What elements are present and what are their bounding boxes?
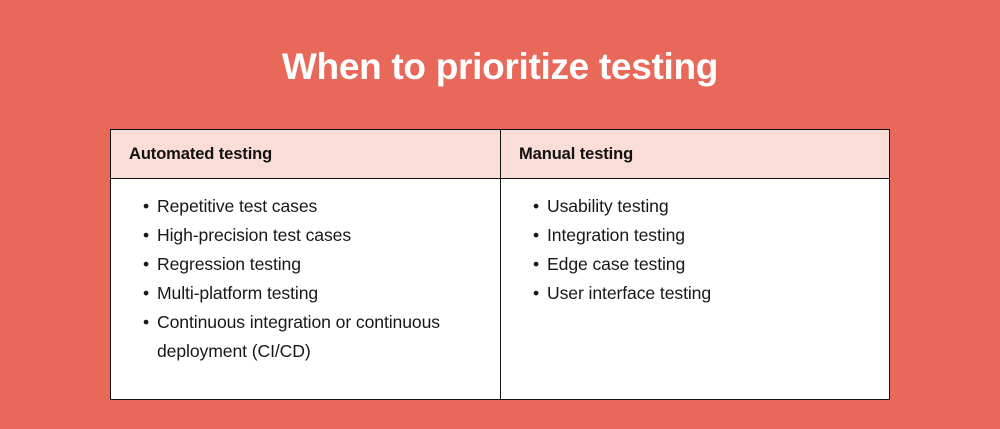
list-item: • Repetitive test cases <box>157 192 486 221</box>
bullet-icon: • <box>531 192 541 221</box>
list-item-label: Continuous integration or continuous dep… <box>157 308 486 366</box>
bullet-icon: • <box>531 250 541 279</box>
list-item-label: High-precision test cases <box>157 221 486 250</box>
table-header-row: Automated testing Manual testing <box>111 130 890 179</box>
table-body: • Repetitive test cases • High-precision… <box>111 179 890 400</box>
list-item: • Edge case testing <box>547 250 875 279</box>
bullet-icon: • <box>141 308 151 337</box>
bullet-icon: • <box>141 279 151 308</box>
list-item: • Multi-platform testing <box>157 279 486 308</box>
list-item-label: User interface testing <box>547 279 875 308</box>
cell-automated-testing-items: • Repetitive test cases • High-precision… <box>111 179 501 400</box>
list-item: • Integration testing <box>547 221 875 250</box>
list-item-label: Regression testing <box>157 250 486 279</box>
list-item-label: Multi-platform testing <box>157 279 486 308</box>
page-title: When to prioritize testing <box>0 47 1000 88</box>
column-header-automated-testing: Automated testing <box>111 130 501 179</box>
list-item: • Continuous integration or continuous d… <box>157 308 486 366</box>
bullet-icon: • <box>531 279 541 308</box>
automated-testing-list: • Repetitive test cases • High-precision… <box>125 192 486 366</box>
slide-canvas: When to prioritize testing Automated tes… <box>0 0 1000 429</box>
manual-testing-list: • Usability testing • Integration testin… <box>515 192 875 308</box>
list-item-label: Repetitive test cases <box>157 192 486 221</box>
list-item-label: Integration testing <box>547 221 875 250</box>
list-item-label: Usability testing <box>547 192 875 221</box>
comparison-table: Automated testing Manual testing • Repet… <box>110 129 890 400</box>
list-item: • High-precision test cases <box>157 221 486 250</box>
list-item: • Regression testing <box>157 250 486 279</box>
column-header-manual-testing: Manual testing <box>501 130 890 179</box>
bullet-icon: • <box>141 192 151 221</box>
list-item: • Usability testing <box>547 192 875 221</box>
bullet-icon: • <box>531 221 541 250</box>
bullet-icon: • <box>141 250 151 279</box>
table-row: • Repetitive test cases • High-precision… <box>111 179 890 400</box>
cell-manual-testing-items: • Usability testing • Integration testin… <box>501 179 890 400</box>
list-item-label: Edge case testing <box>547 250 875 279</box>
list-item: • User interface testing <box>547 279 875 308</box>
bullet-icon: • <box>141 221 151 250</box>
